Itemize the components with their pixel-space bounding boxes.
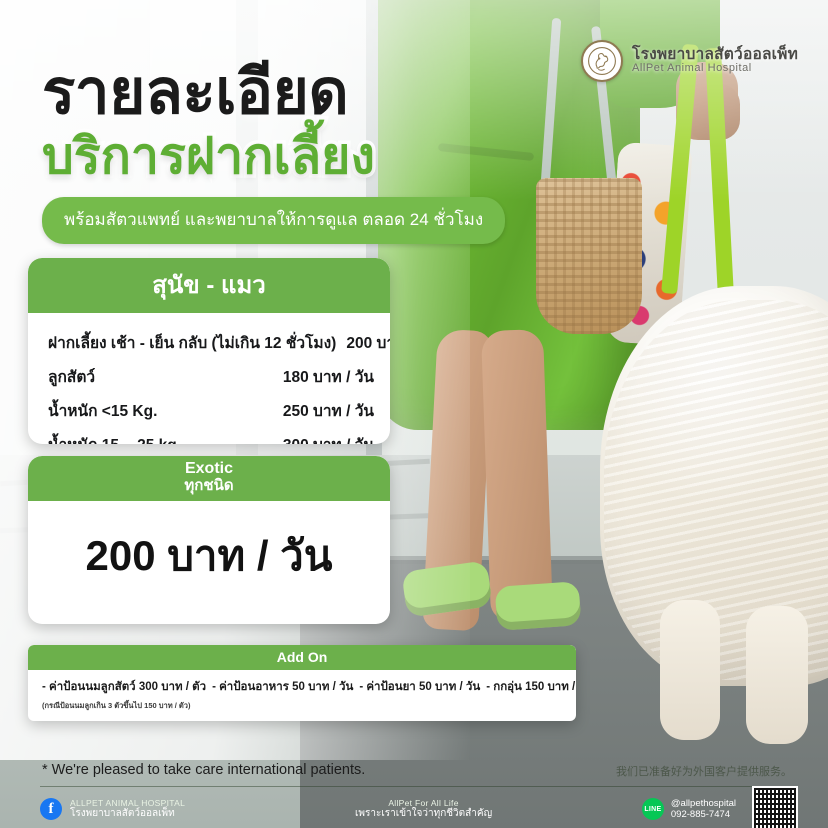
footer-divider xyxy=(40,786,794,787)
list-item: - กกอุ่น 150 บาท / วัน xyxy=(486,678,576,696)
logo-name-th: โรงพยาบาลสัตว์ออลเพ็ท xyxy=(632,47,798,63)
qr-code-pattern xyxy=(754,788,796,828)
allpet-dog-cat-emblem-icon xyxy=(581,40,623,82)
facebook-icon[interactable]: f xyxy=(40,798,62,820)
price-value: 180 บาท / วัน xyxy=(283,364,374,389)
addon-items: - ค่าป้อนนมลูกสัตว์ 300 บาท / ตัว - ค่าป… xyxy=(28,670,576,700)
addon-card-header: Add On xyxy=(28,645,576,670)
facebook-name-en: ALLPET ANIMAL HOSPITAL xyxy=(70,798,185,808)
dog-leg xyxy=(746,606,808,744)
straw-tote-bag xyxy=(536,178,642,334)
dog-cat-price-card: สุนัข - แมว ฝากเลี้ยง เช้า - เย็น กลับ (… xyxy=(28,258,390,444)
international-patients-note: * We're pleased to take care internation… xyxy=(42,762,365,778)
facebook-name-th: โรงพยาบาลสัตว์ออลเพ็ท xyxy=(70,808,185,820)
logo-name-en: AllPet Animal Hospital xyxy=(632,63,798,74)
exotic-header-en: Exotic xyxy=(185,460,233,477)
table-row: น้ำหนัก 15. - 25 kg. 300 บาท / วัน xyxy=(48,427,374,444)
person-leg xyxy=(481,329,553,621)
exotic-price-card: Exotic ทุกชนิด 200 บาท / วัน xyxy=(28,456,390,624)
price-value: 300 บาท / วัน xyxy=(283,432,374,445)
line-phone: 092-885-7474 xyxy=(671,809,736,820)
price-value: 200 บาท xyxy=(346,330,390,355)
exotic-header-th: ทุกชนิด xyxy=(28,478,390,494)
page-title: รายละเอียด xyxy=(42,62,505,124)
facebook-contact[interactable]: f ALLPET ANIMAL HOSPITAL โรงพยาบาลสัตว์อ… xyxy=(40,798,185,820)
line-contact[interactable]: LINE @allpethospital 092-885-7474 xyxy=(642,798,736,821)
headline-block: รายละเอียด บริการฝากเลี้ยง พร้อมสัตวแพทย… xyxy=(42,62,505,244)
table-row: ลูกสัตว์ 180 บาท / วัน xyxy=(48,359,374,393)
table-row: น้ำหนัก <15 Kg. 250 บาท / วัน xyxy=(48,393,374,427)
facebook-text: ALLPET ANIMAL HOSPITAL โรงพยาบาลสัตว์ออล… xyxy=(70,798,185,820)
brand-tagline: AllPet For All Life เพราะเราเข้าใจว่าทุก… xyxy=(355,798,492,820)
qr-code-icon[interactable] xyxy=(752,786,798,828)
price-label: น้ำหนัก <15 Kg. xyxy=(48,398,157,423)
dog-cat-card-header: สุนัข - แมว xyxy=(28,258,390,313)
brand-logo: โรงพยาบาลสัตว์ออลเพ็ท AllPet Animal Hosp… xyxy=(581,40,798,82)
table-row: ฝากเลี้ยง เช้า - เย็น กลับ (ไม่เกิน 12 ช… xyxy=(48,325,374,359)
line-icon[interactable]: LINE xyxy=(642,798,664,820)
service-hours-badge: พร้อมสัตวแพทย์ และพยาบาลให้การดูแล ตลอด … xyxy=(42,197,505,244)
addon-note: (กรณีป้อนนมลูกเกิน 3 ตัวขึ้นไป 150 บาท /… xyxy=(28,700,576,721)
exotic-price-value: 200 บาท / วัน xyxy=(28,501,390,611)
poster-canvas: โรงพยาบาลสัตว์ออลเพ็ท AllPet Animal Hosp… xyxy=(0,0,828,828)
price-label: น้ำหนัก 15. - 25 kg. xyxy=(48,432,181,445)
dog-cat-price-rows: ฝากเลี้ยง เช้า - เย็น กลับ (ไม่เกิน 12 ช… xyxy=(28,313,390,444)
exotic-card-header: Exotic ทุกชนิด xyxy=(28,456,390,501)
list-item: - ค่าป้อนอาหาร 50 บาท / วัน xyxy=(212,678,353,696)
dog-leg xyxy=(660,600,720,740)
footer-bar: f ALLPET ANIMAL HOSPITAL โรงพยาบาลสัตว์อ… xyxy=(0,790,828,828)
green-slipper xyxy=(495,581,582,631)
line-text: @allpethospital 092-885-7474 xyxy=(671,798,736,821)
list-item: - ค่าป้อนนมลูกสัตว์ 300 บาท / ตัว xyxy=(42,678,206,696)
international-patients-note-cn: 我们已准备好为外国客户提供服务。 xyxy=(616,763,792,779)
page-subtitle: บริการฝากเลี้ยง xyxy=(42,130,505,183)
list-item: - ค่าป้อนยา 50 บาท / วัน xyxy=(359,678,480,696)
price-label: ฝากเลี้ยง เช้า - เย็น กลับ (ไม่เกิน 12 ช… xyxy=(48,330,336,355)
price-value: 250 บาท / วัน xyxy=(283,398,374,423)
logo-text: โรงพยาบาลสัตว์ออลเพ็ท AllPet Animal Hosp… xyxy=(632,47,798,75)
line-icon-label: LINE xyxy=(644,806,661,813)
addon-card: Add On - ค่าป้อนนมลูกสัตว์ 300 บาท / ตัว… xyxy=(28,645,576,721)
tagline-th: เพราะเราเข้าใจว่าทุกชีวิตสำคัญ xyxy=(355,808,492,820)
tagline-en: AllPet For All Life xyxy=(355,798,492,808)
line-id: @allpethospital xyxy=(671,798,736,809)
price-label: ลูกสัตว์ xyxy=(48,364,95,389)
